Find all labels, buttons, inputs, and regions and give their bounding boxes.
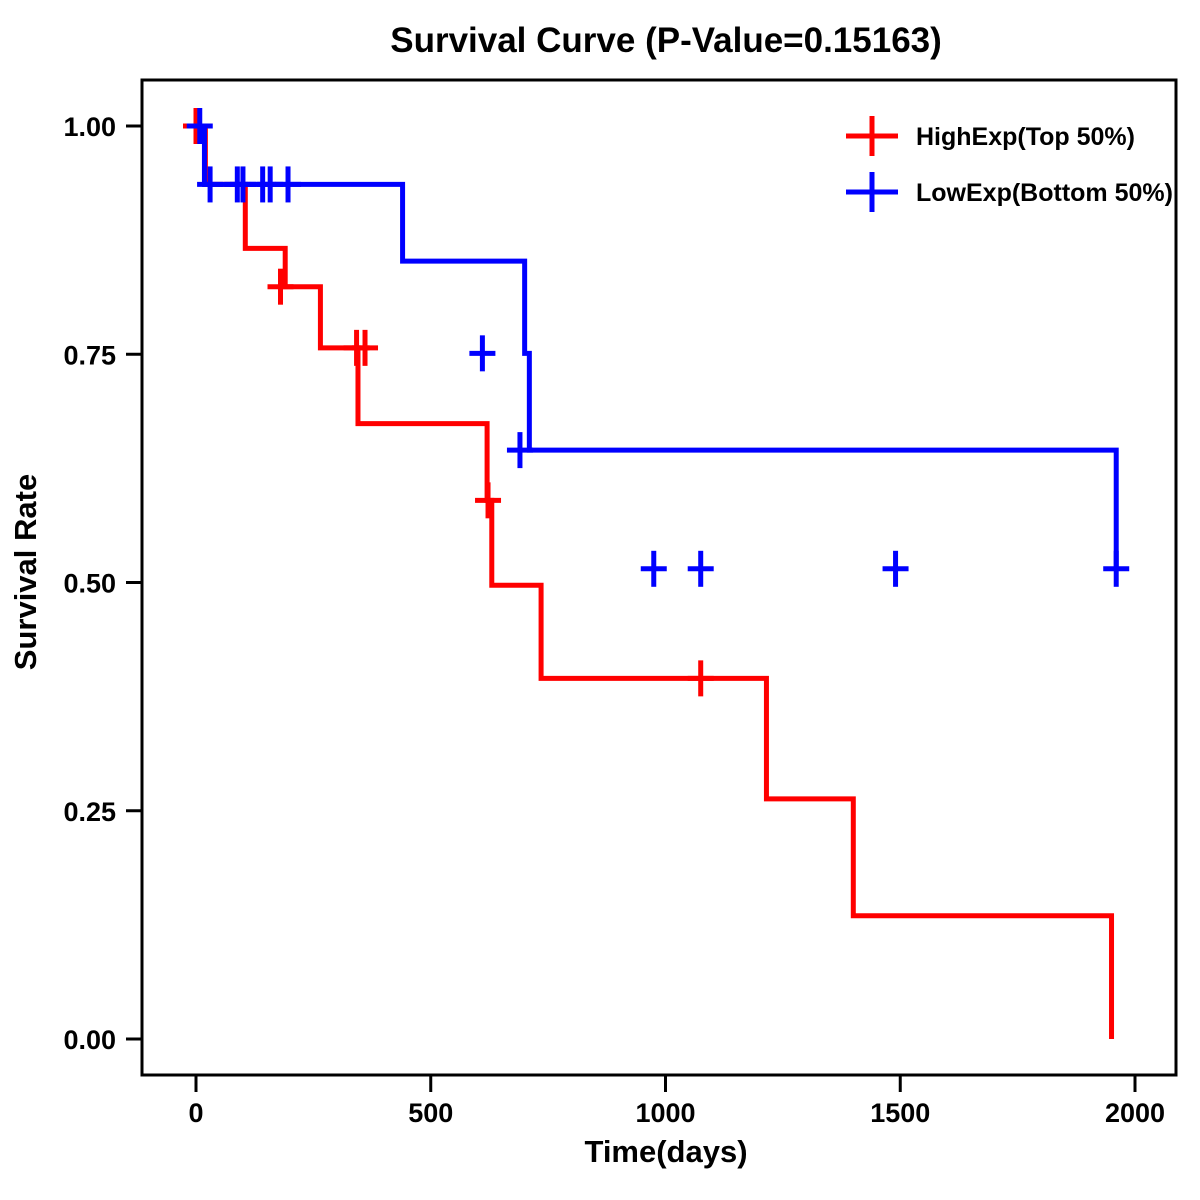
plot-canvas: Survival Curve (P-Value=0.15163) 0.000.2…	[0, 0, 1200, 1200]
legend-item[interactable]: HighExp(Top 50%)	[846, 116, 1135, 156]
legend-item[interactable]: LowExp(Bottom 50%)	[846, 172, 1173, 212]
y-axis-tick-labels: 0.000.250.500.751.00	[63, 112, 116, 1055]
x-axis-title: Time(days)	[584, 1134, 747, 1169]
y-axis-tick-label: 1.00	[63, 112, 116, 142]
y-axis-tick-label: 0.25	[63, 797, 116, 827]
y-axis-ticks	[126, 126, 142, 1039]
x-axis-tick-labels: 0500100015002000	[188, 1098, 1165, 1128]
y-axis-tick-label: 0.00	[63, 1025, 116, 1055]
x-axis-tick-label: 1500	[870, 1098, 930, 1128]
x-axis-tick-label: 0	[188, 1098, 203, 1128]
y-axis-tick-label: 0.50	[63, 569, 116, 599]
legend-label: LowExp(Bottom 50%)	[916, 179, 1173, 207]
x-axis-ticks	[196, 1075, 1135, 1092]
x-axis-tick-label: 2000	[1105, 1098, 1165, 1128]
plot-frame	[142, 80, 1176, 1075]
series-layer	[183, 108, 1129, 1039]
y-axis-tick-label: 0.75	[63, 340, 116, 370]
legend-label: HighExp(Top 50%)	[916, 123, 1135, 151]
chart-legend: HighExp(Top 50%)LowExp(Bottom 50%)	[846, 116, 1173, 212]
x-axis-tick-label: 500	[408, 1098, 453, 1128]
series-high-exp	[183, 108, 1112, 1039]
x-axis-tick-label: 1000	[635, 1098, 695, 1128]
y-axis-title: Survival Rate	[8, 474, 43, 670]
survival-curve-figure: Survival Curve (P-Value=0.15163) 0.000.2…	[0, 0, 1200, 1200]
chart-title: Survival Curve (P-Value=0.15163)	[390, 21, 942, 60]
